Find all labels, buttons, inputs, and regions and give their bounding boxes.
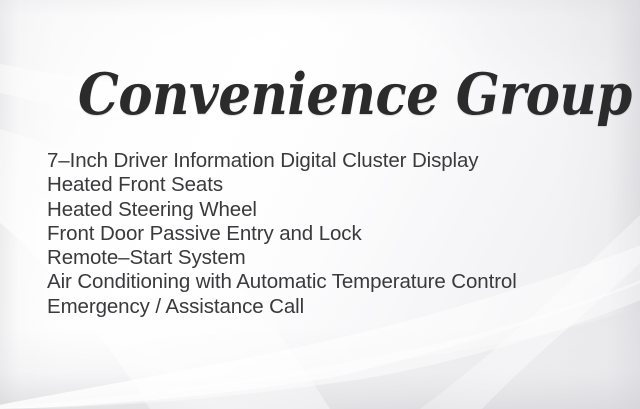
feature-list: 7–Inch Driver Information Digital Cluste… bbox=[47, 149, 607, 319]
list-item: Heated Front Seats bbox=[47, 173, 607, 197]
list-item: Air Conditioning with Automatic Temperat… bbox=[47, 270, 607, 294]
list-item: 7–Inch Driver Information Digital Cluste… bbox=[47, 149, 607, 173]
list-item: Emergency / Assistance Call bbox=[47, 295, 607, 319]
page-title: Convenience Group bbox=[78, 66, 632, 123]
list-item: Remote–Start System bbox=[47, 246, 607, 270]
list-item: Heated Steering Wheel bbox=[47, 198, 607, 222]
convenience-group-slide: Convenience Group 7–Inch Driver Informat… bbox=[0, 0, 640, 409]
list-item: Front Door Passive Entry and Lock bbox=[47, 222, 607, 246]
